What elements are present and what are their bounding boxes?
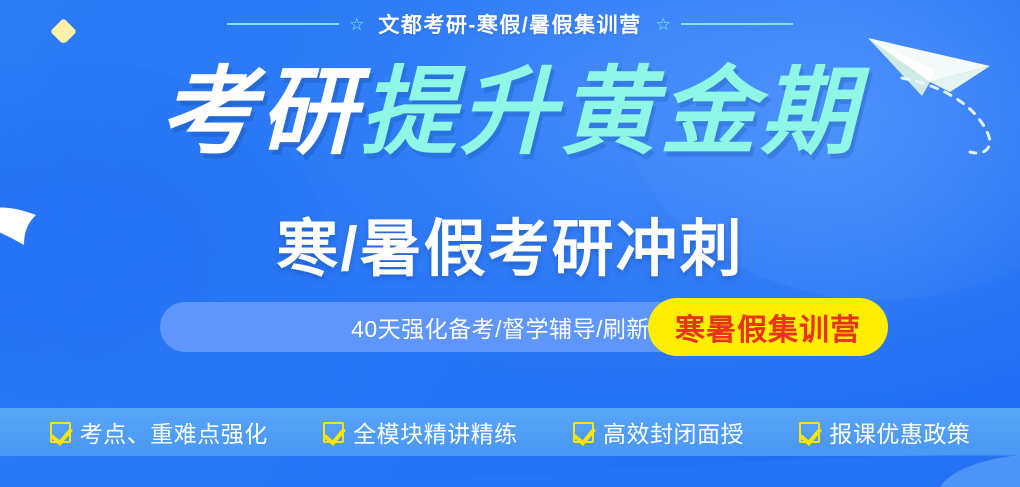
brand-title: 文都考研-寒假/暑假集训营 — [374, 9, 645, 39]
feature-item-1: 考点、重难点强化 — [50, 415, 268, 449]
feature-label: 考点、重难点强化 — [80, 415, 268, 449]
feature-label: 高效封闭面授 — [603, 415, 744, 449]
bottom-wave-decoration — [0, 453, 1020, 487]
camp-badge-label: 寒暑假集训营 — [675, 305, 861, 349]
check-icon — [799, 422, 820, 443]
main-title: 考研提升黄金期 — [0, 62, 1020, 163]
header-rule-left — [227, 23, 339, 25]
feature-item-3: 高效封闭面授 — [573, 415, 744, 449]
star-icon-right: ☆ — [656, 16, 671, 33]
main-title-part-one: 考研 — [160, 55, 360, 168]
check-icon — [323, 422, 344, 443]
check-icon — [573, 422, 594, 443]
check-icon — [50, 422, 71, 443]
feature-item-4: 报课优惠政策 — [799, 415, 970, 449]
promo-banner: ☆ 文都考研-寒假/暑假集训营 ☆ 考研提升黄金期 寒/暑假考研冲刺 40天强化… — [0, 0, 1020, 487]
header-strip: ☆ 文都考研-寒假/暑假集训营 ☆ — [0, 8, 1020, 40]
camp-badge[interactable]: 寒暑假集训营 — [648, 298, 888, 356]
feature-band: 考点、重难点强化 全模块精讲精练 高效封闭面授 报课优惠政策 — [0, 408, 1020, 456]
subtitle: 寒/暑假考研冲刺 — [0, 198, 1020, 288]
detail-pill: 40天强化备考/督学辅导/刷新成绩 寒暑假集训营 — [160, 302, 860, 352]
feature-label: 全模块精讲精练 — [353, 415, 518, 449]
main-title-part-two: 提升黄金期 — [360, 55, 860, 168]
feature-label: 报课优惠政策 — [829, 415, 970, 449]
header-rule-right — [681, 23, 793, 25]
star-icon-left: ☆ — [349, 16, 364, 33]
feature-item-2: 全模块精讲精练 — [323, 415, 518, 449]
